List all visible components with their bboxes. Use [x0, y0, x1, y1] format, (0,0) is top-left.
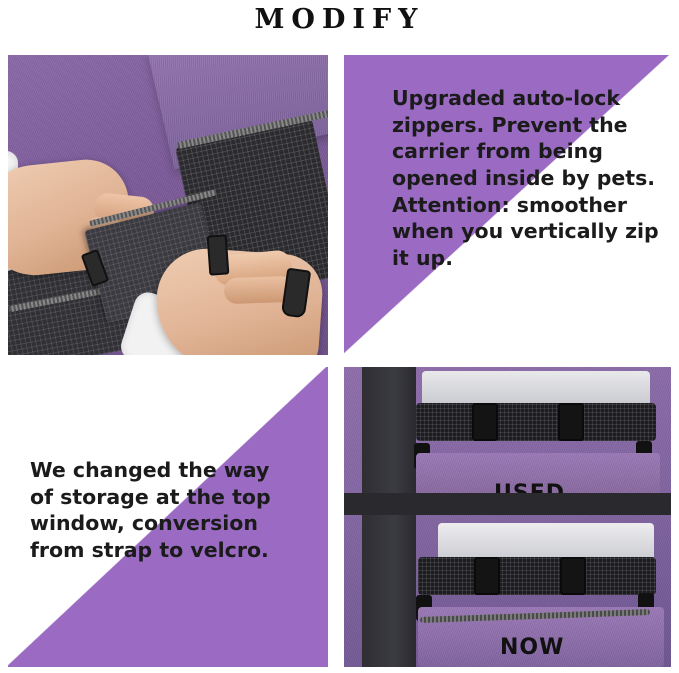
auto-lock-zipper-caption: Upgraded auto-lock zippers. Prevent the … — [392, 85, 662, 271]
product-infographic: MODIFY Upgraded auto-lock zippe — [0, 0, 679, 673]
buckle-before-left — [472, 403, 498, 441]
top-window-storage-caption: We changed the way of storage at the top… — [30, 457, 298, 564]
velcro-strap-after — [418, 557, 656, 595]
carrier-dark-side-panel — [362, 367, 416, 667]
buckle-after-right — [560, 557, 586, 595]
mesh-strap-before — [416, 403, 656, 441]
label-now: NOW — [500, 635, 564, 660]
page-title: MODIFY — [0, 4, 679, 35]
photo-divider — [344, 493, 671, 515]
zipper-photo — [8, 55, 328, 355]
zipper-photo-image — [8, 55, 328, 355]
bottom-left-caption-panel: We changed the way of storage at the top… — [8, 367, 328, 667]
comparison-photo-image: USED NOW — [344, 367, 671, 667]
buckle-after-left — [474, 557, 500, 595]
top-window-comparison-photo: USED NOW — [344, 367, 671, 667]
zipper-pull-middle — [207, 234, 230, 275]
buckle-before-right — [558, 403, 584, 441]
top-right-caption-panel: Upgraded auto-lock zippers. Prevent the … — [344, 55, 671, 355]
